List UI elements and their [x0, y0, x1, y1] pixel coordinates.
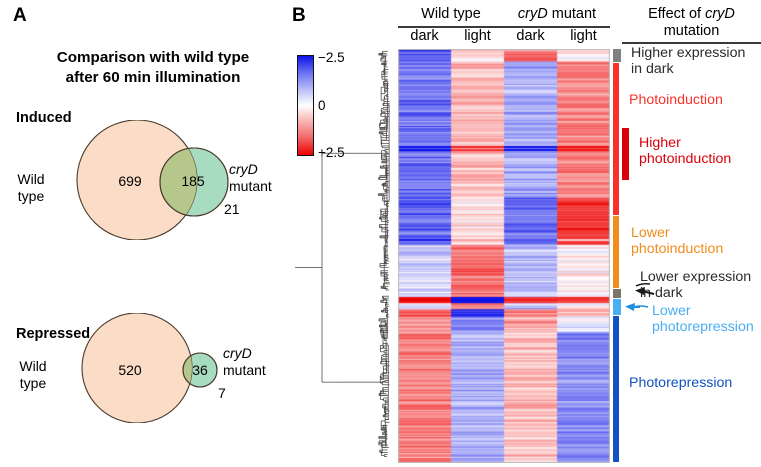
figure-root: A Comparison with wild type after 60 min… [0, 0, 761, 467]
panel-a-letter: A [13, 5, 27, 27]
venn-induced-wildtype-label: Wild type [2, 171, 60, 204]
effect-title-line1: Effect of cryD [622, 6, 761, 23]
column-label-wt-dark: dark [398, 28, 451, 44]
panel-a-title-line2: after 60 min illumination [22, 68, 284, 88]
column-label-mut-light: light [557, 28, 610, 44]
annotation-label-higher-expression-in-dark: Higher expressionin dark [631, 45, 745, 77]
expression-heatmap [398, 49, 610, 463]
annotation-label-line1: Higher expression [631, 45, 745, 61]
header-rule-effect [622, 42, 761, 44]
header-group-cryd-mutant: cryD mutant [504, 6, 610, 22]
panel-b-letter: B [292, 5, 306, 27]
venn-induced-mutant-label: cryD mutant [229, 161, 272, 194]
annotation-label-photorepression: Photorepression [629, 375, 732, 391]
annotation-label-higher-photoinduction: Higherphotoinduction [639, 135, 731, 167]
venn-induced-count-wildtype-only: 699 [107, 173, 153, 189]
annotation-label-photoinduction: Photoinduction [629, 92, 723, 108]
effect-title-line2: mutation [622, 23, 761, 40]
effect-title-italic: cryD [705, 6, 735, 22]
venn-repressed-mutant-label: cryD mutant [223, 345, 266, 378]
annotation-label-line1: Photoinduction [629, 92, 723, 108]
venn-repressed-mut-line1: cryD [223, 345, 266, 362]
arrow-lower-photorepression-head [625, 303, 635, 311]
annotation-label-line1: Photorepression [629, 375, 732, 391]
annotation-bar-photorepression[interactable] [613, 316, 619, 462]
header-group-wild-type: Wild type [398, 6, 504, 22]
header-group-cryd-italic: cryD [518, 6, 548, 22]
annotation-label-lower-photoinduction: Lowerphotoinduction [631, 225, 723, 257]
effect-column-title: Effect of cryD mutation [622, 6, 761, 40]
header-group-mutant-word: mutant [552, 6, 596, 22]
column-label-wt-light: light [451, 28, 504, 44]
venn-induced-mut-line2: mutant [229, 178, 272, 195]
panel-a-title-line1: Comparison with wild type [22, 48, 284, 68]
annotation-bar-higher-photoinduction[interactable] [622, 128, 629, 180]
effect-title-plain: Effect of [648, 6, 705, 22]
row-dendrogram [292, 47, 400, 461]
annotation-label-line2: photoinduction [639, 151, 731, 167]
column-label-mut-dark: dark [504, 28, 557, 44]
venn-induced-count-mutant-only: 21 [224, 201, 240, 217]
annotation-bar-higher-expression-in-dark[interactable] [613, 49, 621, 62]
arrow-lower-expression-curve [636, 284, 650, 286]
panel-a-title: Comparison with wild type after 60 min i… [22, 48, 284, 88]
venn-repressed-count-overlap: 36 [178, 362, 222, 378]
annotation-label-line1: Higher [639, 135, 731, 151]
annotation-leader-arrows [612, 255, 692, 325]
venn-repressed-wt-line1: Wild [4, 358, 62, 375]
venn-repressed-mut-line2: mutant [223, 362, 266, 379]
venn-induced-count-overlap: 185 [170, 173, 216, 189]
venn-repressed-wildtype-label: Wild type [4, 358, 62, 391]
venn-repressed-wt-line2: type [4, 375, 62, 392]
venn-induced-mut-line1: cryD [229, 161, 272, 178]
annotation-label-line1: Lower [631, 225, 723, 241]
annotation-bar-photoinduction[interactable] [613, 63, 619, 215]
venn-repressed-count-wildtype-only: 520 [107, 362, 153, 378]
arrow-lower-expression-head [635, 287, 645, 295]
annotation-label-line2: in dark [631, 61, 745, 77]
venn-induced-wt-line2: type [2, 188, 60, 205]
venn-repressed-count-mutant-only: 7 [218, 385, 226, 401]
venn-induced-wt-line1: Wild [2, 171, 60, 188]
